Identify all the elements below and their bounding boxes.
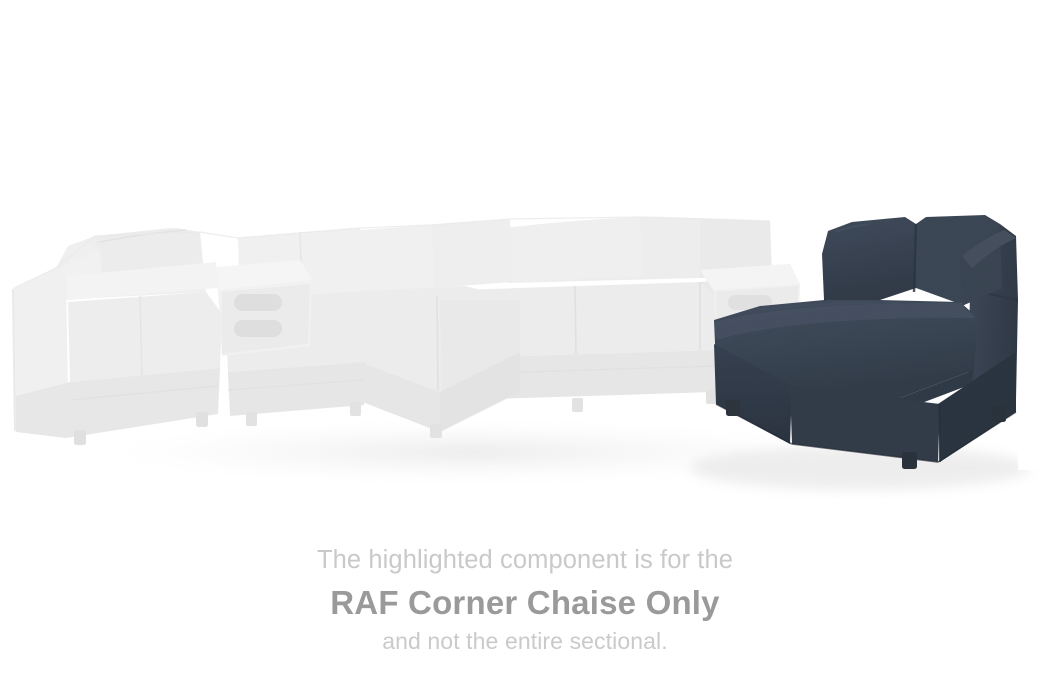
product-image-stage: The highlighted component is for the RAF…: [0, 0, 1050, 700]
caption-block: The highlighted component is for the RAF…: [0, 548, 1050, 664]
ghost-leg: [246, 412, 257, 426]
cupholder-left-2: [234, 320, 282, 337]
chaise-leg-back-right: [992, 406, 1006, 422]
chaise-leg-front-right: [902, 452, 917, 469]
sofa-vector-art: [0, 0, 1050, 540]
chaise-occluder: [1018, 236, 1050, 470]
sectional-sofa-illustration: [0, 0, 1050, 540]
module-laf-loveseat: [12, 228, 222, 445]
module-corner-wedge: [345, 219, 520, 438]
cupholder-left-1: [234, 294, 282, 311]
ghost-leg: [74, 430, 86, 445]
ghost-leg: [196, 412, 208, 427]
ghosted-sectional-group: [12, 216, 800, 445]
ghost-leg: [706, 390, 717, 404]
module-console-left: [206, 260, 312, 356]
chaise-leg-front-left: [726, 400, 740, 416]
caption-line-2-component-name: RAF Corner Chaise Only: [0, 586, 1050, 630]
caption-line-1: The highlighted component is for the: [0, 548, 1050, 586]
ghost-leg: [350, 402, 361, 416]
chaise-back-cushion-left: [822, 217, 916, 300]
ghost-leg: [430, 424, 442, 438]
ghost-leg: [572, 398, 583, 412]
caption-line-3: and not the entire sectional.: [0, 630, 1050, 664]
